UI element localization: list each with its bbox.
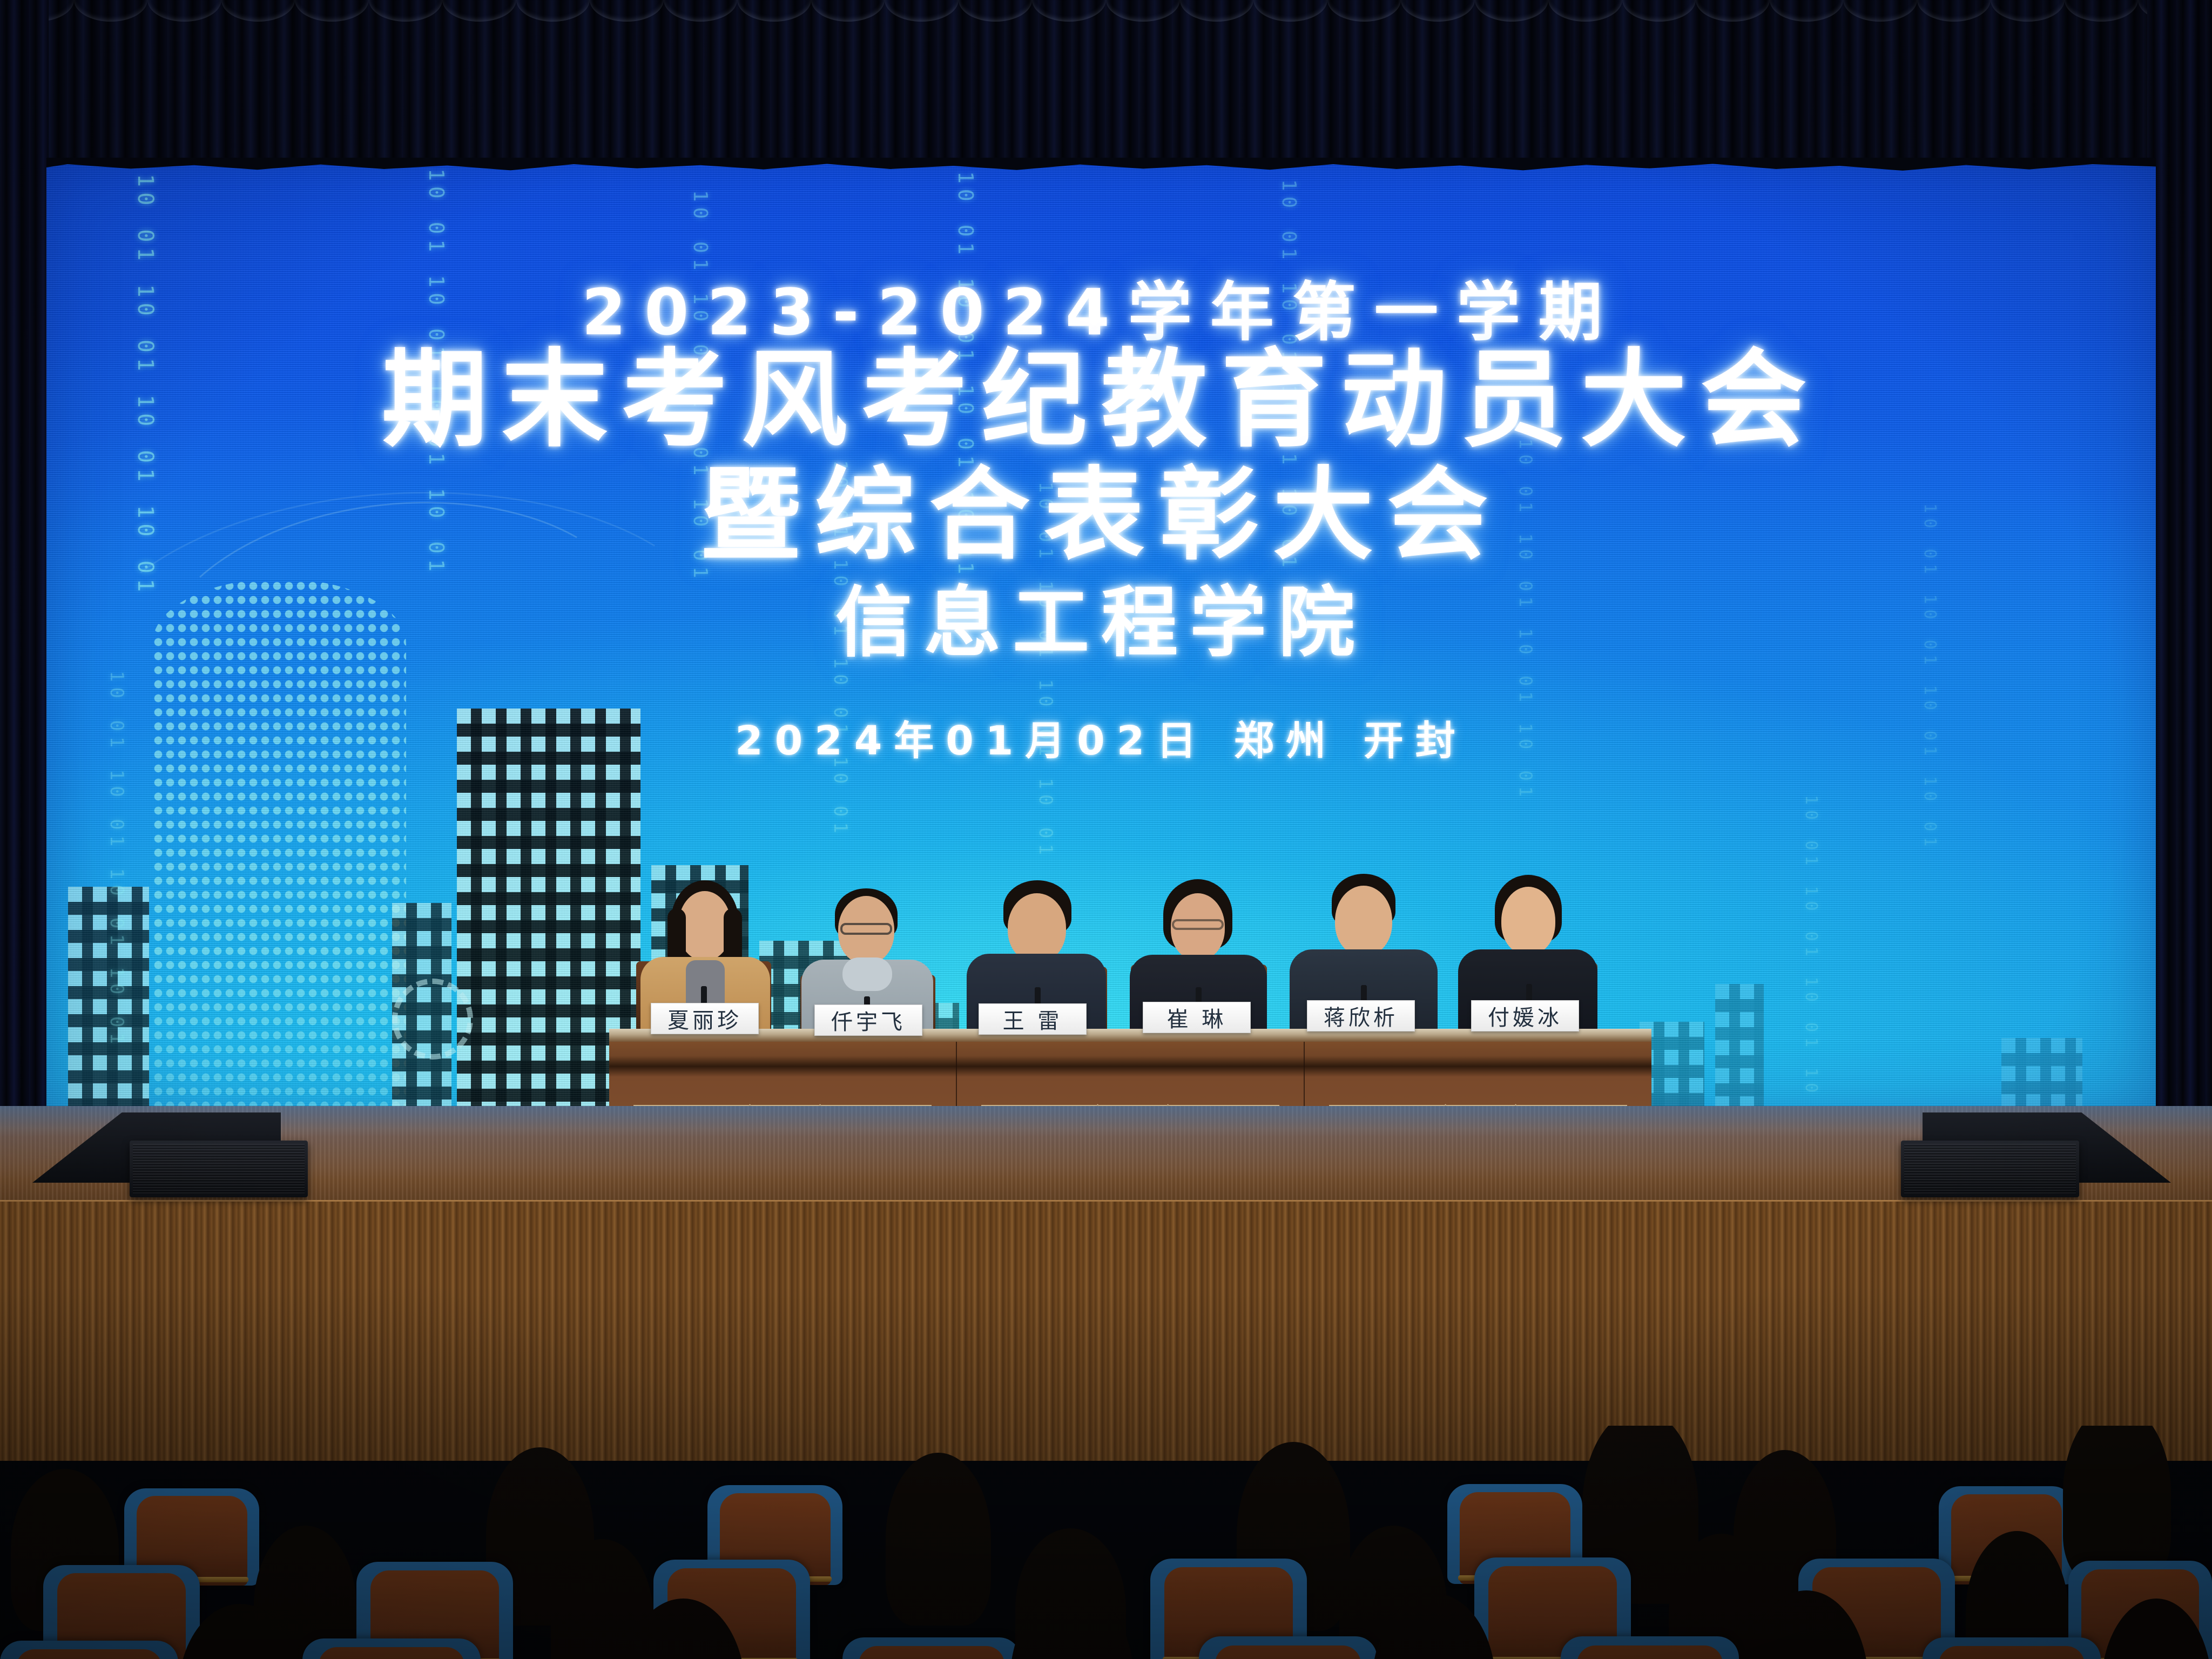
nameplate-text: 夏丽珍: [667, 1003, 742, 1034]
binary-stream-text: 10 01 10 01 10 01 10 01: [689, 190, 711, 584]
binary-stream-text: 10 01 10 01 10 01 10 01: [1920, 503, 1939, 852]
auditorium-scene: 10 01 10 01 10 01 10 01 10 01 10 01 10 0…: [0, 0, 2212, 1659]
face: [1008, 893, 1066, 962]
audience-seat: [842, 1637, 1021, 1659]
binary-stream-text: 10 01 10 01 10 01 10 01: [954, 171, 977, 579]
led-gear-icon: [392, 979, 473, 1060]
audience-seat: [0, 1641, 178, 1659]
nameplate: 夏丽珍: [651, 1003, 759, 1034]
nameplate-text: 付媛冰: [1488, 1000, 1562, 1031]
eyeglasses: [1172, 919, 1224, 930]
title-academic-year: 2023-2024学年第一学期: [46, 260, 2156, 353]
binary-stream-text: 10 01 10 01 10 01 10 01: [1515, 439, 1536, 802]
curtain-left-panel: [0, 0, 49, 1145]
led-building-block: [1715, 984, 1764, 1119]
face: [1501, 887, 1555, 955]
face: [1335, 886, 1392, 956]
nameplate-text: 蒋欣析: [1324, 1000, 1398, 1031]
audience-seat: [1923, 1637, 2101, 1659]
audience-seat: [302, 1638, 481, 1659]
audience-seat: [1561, 1636, 1739, 1659]
audience-head: [886, 1453, 991, 1626]
audience-head: [2063, 1426, 2171, 1582]
nameplate: 蒋欣析: [1307, 1000, 1415, 1031]
nameplate: 仟宇飞: [814, 1004, 922, 1036]
nameplate-text: 仟宇飞: [831, 1004, 906, 1036]
stage-curtain: [0, 0, 2212, 184]
nameplate: 付媛冰: [1471, 1000, 1579, 1031]
curtain-right-panel: [2147, 0, 2212, 1145]
stage-monitor-speaker: [130, 1141, 308, 1197]
eyeglasses: [840, 923, 892, 935]
audience-seat: [1199, 1636, 1377, 1659]
stage-monitor-speaker: [1901, 1141, 2079, 1197]
audience-seating-area: [0, 1426, 2212, 1659]
binary-stream-text: 10 01 10 01 10 01 10 01: [106, 671, 127, 1049]
scarf-collar: [842, 957, 892, 991]
binary-stream-text: 10 01 10 01 10 01 10 01: [1035, 482, 1056, 860]
binary-stream-text: 10 01 10 01 10 01 10 01: [1802, 795, 1820, 1119]
stage-front-facade: [0, 1202, 2212, 1461]
curtain-scallop-trim: [0, 0, 2212, 22]
binary-stream-text: 10 01 10 01 10 01 10 01: [829, 460, 851, 839]
nameplate-text: 崔 琳: [1167, 1002, 1227, 1033]
binary-stream-text: 10 01 10 01 10 01 10 01: [1278, 179, 1300, 573]
nameplate-text: 王 雷: [1003, 1003, 1063, 1035]
led-torn-top-edge: [46, 158, 2156, 174]
nameplate: 崔 琳: [1143, 1002, 1251, 1033]
stage-deck-reflection: [0, 1106, 2212, 1209]
nameplate: 王 雷: [979, 1003, 1087, 1035]
binary-stream-text: 10 01 10 01 10 01 10 01: [424, 168, 448, 577]
binary-stream-text: 10 01 10 01 10 01 10 01: [133, 174, 158, 597]
